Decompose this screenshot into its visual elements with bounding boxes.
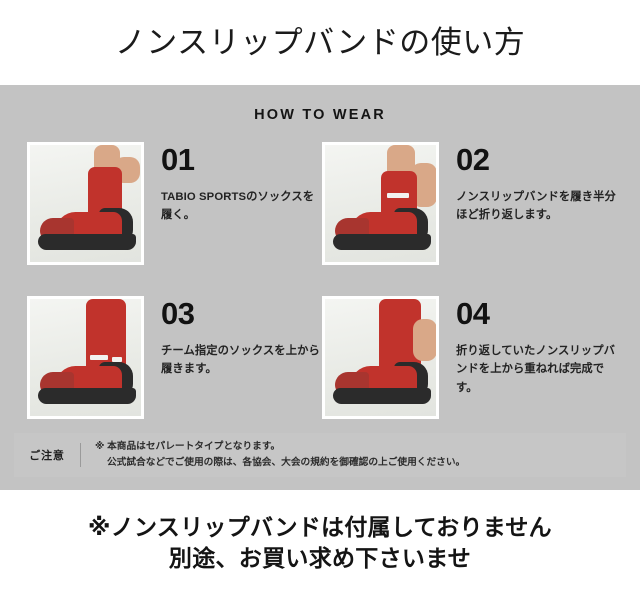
steps-row-1: 01 TABIO SPORTSのソックスを履く。 xyxy=(27,142,617,265)
sock-photo-illustration xyxy=(325,145,436,262)
step-item-04: 04 折り返していたノンスリップバンドを上から重ねれば完成です。 xyxy=(322,296,617,419)
notice-line-2: 別途、お買い求め下さいませ xyxy=(169,543,471,575)
caution-line-1: ※ 本商品はセパレートタイプとなります。 xyxy=(95,439,465,455)
steps-row-2: 03 チーム指定のソックスを上から履きます。 xyxy=(27,296,617,419)
step-number-01: 01 xyxy=(161,144,322,175)
step-number-04: 04 xyxy=(456,298,617,329)
sock-photo-illustration xyxy=(30,299,141,416)
step-text-01: 01 TABIO SPORTSのソックスを履く。 xyxy=(144,142,322,225)
step-item-01: 01 TABIO SPORTSのソックスを履く。 xyxy=(27,142,322,265)
sock-photo-illustration xyxy=(30,145,141,262)
page-title: ノンスリップバンドの使い方 xyxy=(115,27,525,58)
step-item-03: 03 チーム指定のソックスを上から履きます。 xyxy=(27,296,322,419)
band-logo-shape xyxy=(90,355,108,360)
step-text-03: 03 チーム指定のソックスを上から履きます。 xyxy=(144,296,322,379)
caution-label: ご注意 xyxy=(14,447,80,463)
step-number-03: 03 xyxy=(161,298,322,329)
sock-sole-shape xyxy=(38,234,136,250)
caution-line-2: 公式試合などでご使用の際は、各協会、大会の規約を御確認の上ご使用ください。 xyxy=(95,455,465,471)
page-title-bar: ノンスリップバンドの使い方 xyxy=(0,0,640,85)
step-item-02: 02 ノンスリップバンドを履き半分ほど折り返します。 xyxy=(322,142,617,265)
step-description-02: ノンスリップバンドを履き半分ほど折り返します。 xyxy=(456,188,617,225)
caution-body: ※ 本商品はセパレートタイプとなります。 公式試合などでご使用の際は、各協会、大… xyxy=(81,439,465,472)
sock-sole-shape xyxy=(333,388,431,404)
step-description-04: 折り返していたノンスリップバンドを上から重ねれば完成です。 xyxy=(456,342,617,397)
step-text-04: 04 折り返していたノンスリップバンドを上から重ねれば完成です。 xyxy=(439,296,617,397)
step-number-02: 02 xyxy=(456,144,617,175)
bottom-notice: ※ノンスリップバンドは付属しておりません 別途、お買い求め下さいませ xyxy=(0,490,640,596)
how-to-wear-panel: HOW TO WEAR xyxy=(0,85,640,490)
caution-box: ご注意 ※ 本商品はセパレートタイプとなります。 公式試合などでご使用の際は、各… xyxy=(14,433,626,477)
step-photo-02 xyxy=(322,142,439,265)
sock-sole-shape xyxy=(333,234,431,250)
leg-skin-shape xyxy=(387,145,415,171)
step-description-01: TABIO SPORTSのソックスを履く。 xyxy=(161,188,322,225)
band-logo-shape xyxy=(387,193,409,198)
step-description-03: チーム指定のソックスを上から履きます。 xyxy=(161,342,322,379)
product-instruction-page: ノンスリップバンドの使い方 HOW TO WEAR xyxy=(0,0,640,596)
sock-photo-illustration xyxy=(325,299,436,416)
notice-line-1: ※ノンスリップバンドは付属しておりません xyxy=(88,512,552,544)
step-photo-03 xyxy=(27,296,144,419)
step-photo-01 xyxy=(27,142,144,265)
sock-sole-shape xyxy=(38,388,136,404)
hand-shape xyxy=(413,319,436,361)
step-photo-04 xyxy=(322,296,439,419)
step-text-02: 02 ノンスリップバンドを履き半分ほど折り返します。 xyxy=(439,142,617,225)
panel-heading: HOW TO WEAR xyxy=(0,107,640,123)
steps-grid: 01 TABIO SPORTSのソックスを履く。 xyxy=(27,142,617,419)
